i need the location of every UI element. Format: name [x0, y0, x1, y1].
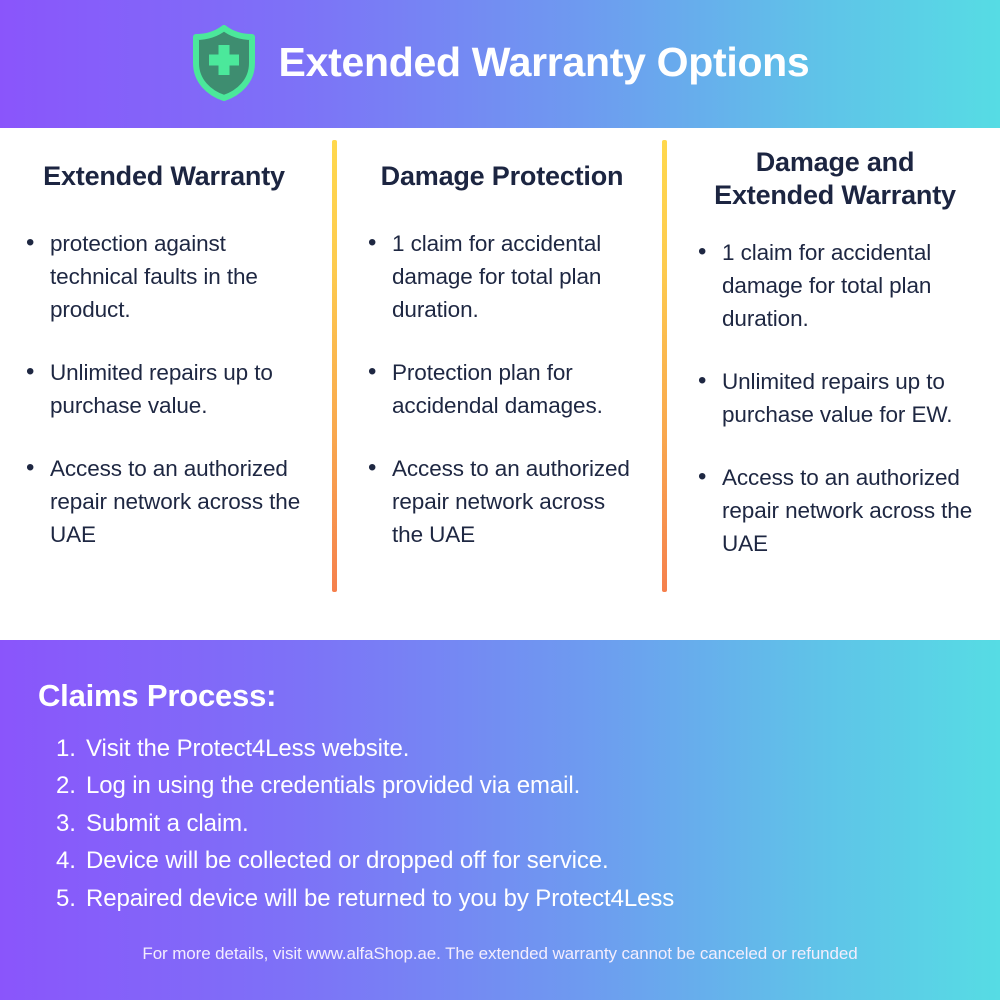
claims-process-title: Claims Process:: [0, 678, 1000, 714]
plan-column-extended-warranty: Extended Warranty protection against tec…: [0, 146, 332, 640]
list-item: Visit the Protect4Less website.: [56, 730, 1000, 767]
list-item: Repaired device will be returned to you …: [56, 880, 1000, 917]
plan-heading-2: Damage Protection: [364, 146, 640, 193]
page-title: Extended Warranty Options: [279, 41, 810, 84]
list-item: Access to an authorized repair network a…: [22, 452, 306, 551]
list-item: Log in using the credentials provided vi…: [56, 767, 1000, 804]
plan-feature-list-1: protection against technical faults in t…: [22, 227, 306, 552]
list-item: Access to an authorized repair network a…: [364, 452, 640, 551]
list-item: Unlimited repairs up to purchase value f…: [694, 365, 976, 431]
plan-feature-list-2: 1 claim for accidental damage for total …: [364, 227, 640, 552]
list-item: 1 claim for accidental damage for total …: [694, 236, 976, 335]
plan-heading-1: Extended Warranty: [22, 146, 306, 193]
plan-heading-3: Damage andExtended Warranty: [694, 146, 976, 212]
claims-process-section: Claims Process: Visit the Protect4Less w…: [0, 640, 1000, 1000]
list-item: Submit a claim.: [56, 805, 1000, 842]
list-item: Device will be collected or dropped off …: [56, 842, 1000, 879]
plan-heading-3-line1: Damage and: [756, 147, 915, 177]
claims-process-steps: Visit the Protect4Less website. Log in u…: [0, 730, 1000, 917]
header-banner: Extended Warranty Options: [0, 0, 1000, 128]
list-item: Protection plan for accidendal damages.: [364, 356, 640, 422]
warranty-infographic: Extended Warranty Options Extended Warra…: [0, 0, 1000, 1000]
list-item: Access to an authorized repair network a…: [694, 461, 976, 560]
plan-comparison-section: Extended Warranty protection against tec…: [0, 128, 1000, 640]
plan-feature-list-3: 1 claim for accidental damage for total …: [694, 236, 976, 561]
shield-health-icon: [191, 25, 257, 101]
list-item: Unlimited repairs up to purchase value.: [22, 356, 306, 422]
footer-disclaimer: For more details, visit www.alfaShop.ae.…: [0, 944, 1000, 1000]
column-divider-1: [332, 140, 337, 592]
plan-column-damage-and-extended-warranty: Damage andExtended Warranty 1 claim for …: [662, 146, 1000, 640]
list-item: protection against technical faults in t…: [22, 227, 306, 326]
plan-heading-3-line2: Extended Warranty: [714, 180, 956, 210]
plan-column-damage-protection: Damage Protection 1 claim for accidental…: [332, 146, 662, 640]
column-divider-2: [662, 140, 667, 592]
list-item: 1 claim for accidental damage for total …: [364, 227, 640, 326]
